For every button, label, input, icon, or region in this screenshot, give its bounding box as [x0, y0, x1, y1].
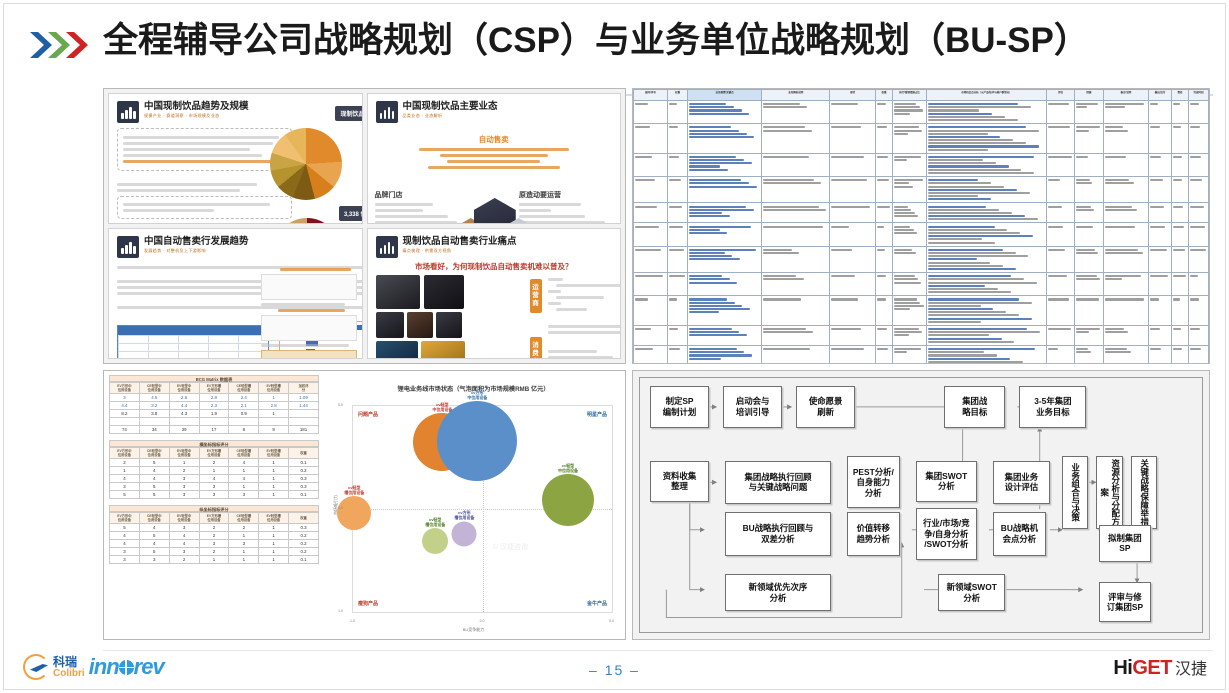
worksheet-cell[interactable] [927, 345, 1047, 364]
worksheet-cell[interactable] [830, 223, 876, 246]
bcg-cell[interactable]: 1 [110, 467, 140, 475]
bcg-cell[interactable]: 2.1 [229, 402, 259, 410]
flow-box-b18[interactable]: 拟制集团SP [1099, 525, 1152, 562]
bcg-cell[interactable]: 0.2 [289, 532, 319, 540]
bcg-cell[interactable]: 181 [289, 426, 319, 434]
bcg-cell[interactable]: 5 [110, 524, 140, 532]
worksheet-cell[interactable] [893, 101, 927, 124]
worksheet-cell[interactable] [875, 325, 892, 345]
worksheet-cell[interactable] [762, 124, 830, 154]
worksheet-cell[interactable] [1189, 223, 1209, 246]
worksheet-cell[interactable] [668, 223, 688, 246]
bcg-table[interactable]: BCG Matrix 数据表EV方形中位用设备CE轻型中位用设备EV轻型中位用设… [109, 375, 319, 434]
bcg-table-row[interactable]: 4.43.24.42.32.12.81.44 [110, 402, 319, 410]
flow-box-b7[interactable]: 集团战略执行回顾与关键战略问题 [725, 461, 831, 504]
worksheet-cell[interactable] [762, 273, 830, 296]
worksheet-cell[interactable] [927, 296, 1047, 326]
worksheet-cell[interactable] [688, 101, 762, 124]
bcg-cell[interactable]: 3 [199, 540, 229, 548]
worksheet-cell[interactable] [668, 246, 688, 272]
bcg-cell[interactable]: 0.1 [289, 556, 319, 564]
bcg-cell[interactable]: 9 [259, 426, 289, 434]
bcg-cell[interactable]: 4.5 [139, 394, 169, 402]
worksheet-cell[interactable] [1103, 345, 1149, 364]
bcg-cell[interactable]: 1 [259, 556, 289, 564]
bcg-cell[interactable] [139, 418, 169, 426]
worksheet-cell[interactable] [668, 296, 688, 326]
flow-box-b15[interactable]: 价值转移趋势分析 [847, 512, 900, 555]
bcg-cell[interactable] [289, 410, 319, 418]
worksheet-row[interactable] [634, 177, 1209, 203]
worksheet-cell[interactable] [1075, 153, 1103, 176]
worksheet-cell[interactable] [830, 296, 876, 326]
bcg-cell[interactable]: 1 [259, 483, 289, 491]
worksheet-cell[interactable] [927, 246, 1047, 272]
bcg-cell[interactable]: 2 [169, 467, 199, 475]
bcg-cell[interactable]: 17 [199, 426, 229, 434]
worksheet-cell[interactable] [634, 101, 668, 124]
bcg-cell[interactable]: 4 [110, 540, 140, 548]
bcg-cell[interactable]: 1 [259, 540, 289, 548]
worksheet-cell[interactable] [1103, 124, 1149, 154]
worksheet-row[interactable] [634, 153, 1209, 176]
bcg-cell[interactable]: 3 [229, 491, 259, 499]
worksheet-cell[interactable] [1075, 345, 1103, 364]
worksheet-cell[interactable] [875, 246, 892, 272]
worksheet-cell[interactable] [1103, 203, 1149, 223]
slide-thumb-2[interactable]: 中国现制饮品主要业态 品类业态 · 业态解析 自动售卖 品牌门店 [367, 93, 622, 224]
worksheet-cell[interactable] [688, 203, 762, 223]
panel-industry-slides[interactable]: 中国现制饮品趋势及规模 规模产业 · 赛道洞察 · 市场规模及业态 [103, 88, 626, 364]
bcg-cell[interactable]: 1 [259, 459, 289, 467]
flow-box-b10[interactable]: 集团业务设计评估 [993, 461, 1050, 504]
flow-box-b17[interactable]: BU战略机会点分析 [993, 512, 1046, 555]
worksheet-cell[interactable] [762, 246, 830, 272]
bcg-cell[interactable]: 2.8 [199, 394, 229, 402]
bcg-cell[interactable]: 1 [259, 532, 289, 540]
worksheet-row[interactable] [634, 124, 1209, 154]
worksheet-cell[interactable] [875, 223, 892, 246]
bcg-cell[interactable]: 5 [139, 491, 169, 499]
bcg-table-row[interactable]: 4542110.2 [110, 532, 319, 540]
flow-box-b9[interactable]: 集团SWOT分析 [916, 461, 977, 502]
worksheet-cell[interactable] [1171, 124, 1188, 154]
flow-box-b20[interactable]: 新领域优先次序分析 [725, 574, 831, 611]
worksheet-cell[interactable] [1075, 177, 1103, 203]
worksheet-cell[interactable] [893, 203, 927, 223]
flow-box-b21[interactable]: 新领域SWOT分析 [938, 574, 1005, 611]
worksheet-cell[interactable] [634, 124, 668, 154]
worksheet-cell[interactable] [1103, 296, 1149, 326]
worksheet-cell[interactable] [1149, 345, 1172, 364]
worksheet-cell[interactable] [1075, 273, 1103, 296]
worksheet-cell[interactable] [688, 296, 762, 326]
worksheet-cell[interactable] [1046, 345, 1074, 364]
worksheet-cell[interactable] [1075, 101, 1103, 124]
worksheet-cell[interactable] [668, 101, 688, 124]
worksheet-cell[interactable] [1189, 101, 1209, 124]
worksheet-cell[interactable] [893, 177, 927, 203]
worksheet-cell[interactable] [927, 153, 1047, 176]
worksheet-cell[interactable] [634, 273, 668, 296]
bcg-cell[interactable]: 3 [110, 483, 140, 491]
bcg-cell[interactable]: 4 [139, 475, 169, 483]
worksheet-cell[interactable] [1189, 124, 1209, 154]
worksheet-cell[interactable] [688, 124, 762, 154]
worksheet-cell[interactable] [1046, 296, 1074, 326]
worksheet-cell[interactable] [1103, 246, 1149, 272]
bcg-cell[interactable]: 0.1 [289, 491, 319, 499]
worksheet-cell[interactable] [893, 273, 927, 296]
bcg-cell[interactable]: 3 [110, 394, 140, 402]
worksheet-cell[interactable] [1171, 325, 1188, 345]
worksheet-cell[interactable] [634, 177, 668, 203]
bcg-cell[interactable]: 2 [229, 524, 259, 532]
bcg-cell[interactable]: 3 [169, 548, 199, 556]
worksheet-cell[interactable] [1103, 153, 1149, 176]
panel-strategy-worksheet[interactable]: 编号/序号权重业务要素/关键点业务解析说明现状权重执行/管理措施占比市场机会点分… [632, 88, 1210, 364]
worksheet-cell[interactable] [830, 273, 876, 296]
flow-box-b3[interactable]: 使命愿景刷新 [796, 386, 855, 427]
worksheet-cell[interactable] [762, 153, 830, 176]
bcg-cell[interactable]: 4.4 [169, 402, 199, 410]
bcg-table-row[interactable]: 3533110.3 [110, 483, 319, 491]
bcg-cell[interactable]: 0.3 [289, 524, 319, 532]
bubble-point[interactable] [437, 401, 517, 481]
worksheet-cell[interactable] [1149, 177, 1172, 203]
slide-thumb-4[interactable]: 现制饮品自动售卖行业痛点 痛点梳理 · 供需双方视角 市场看好，为何现制饮品自动… [367, 228, 622, 359]
worksheet-cell[interactable] [875, 296, 892, 326]
worksheet-cell[interactable] [1189, 246, 1209, 272]
flow-box-b11[interactable]: 业务组合与决策 [1062, 456, 1088, 528]
bcg-cell[interactable]: 3 [169, 483, 199, 491]
bcg-cell[interactable]: 5 [139, 459, 169, 467]
bcg-cell[interactable]: 1 [229, 532, 259, 540]
bcg-cell[interactable] [229, 418, 259, 426]
flow-box-b4[interactable]: 集团战略目标 [944, 386, 1005, 427]
worksheet-cell[interactable] [1171, 177, 1188, 203]
bcg-table-row[interactable]: 34.52.62.82.411.09 [110, 394, 319, 402]
bcg-cell[interactable]: 4 [229, 459, 259, 467]
worksheet-cell[interactable] [893, 124, 927, 154]
worksheet-cell[interactable] [927, 101, 1047, 124]
bcg-cell[interactable]: 2 [199, 532, 229, 540]
bcg-cell[interactable]: 3 [229, 540, 259, 548]
bcg-table-row[interactable]: 5432210.3 [110, 524, 319, 532]
bcg-cell[interactable]: 3 [110, 556, 140, 564]
bcg-cell[interactable]: 8 [229, 426, 259, 434]
worksheet-cell[interactable] [688, 345, 762, 364]
worksheet-cell[interactable] [830, 345, 876, 364]
worksheet-cell[interactable] [927, 203, 1047, 223]
worksheet-cell[interactable] [668, 203, 688, 223]
flow-box-b12[interactable]: 资源分析与分配方案 [1096, 456, 1122, 528]
worksheet-row[interactable] [634, 223, 1209, 246]
bcg-table-row[interactable] [110, 418, 319, 426]
worksheet-row[interactable] [634, 203, 1209, 223]
bcg-cell[interactable]: 4 [139, 467, 169, 475]
worksheet-cell[interactable] [1149, 223, 1172, 246]
worksheet-cell[interactable] [1046, 124, 1074, 154]
bcg-cell[interactable]: 1 [259, 394, 289, 402]
bcg-cell[interactable]: 1 [259, 524, 289, 532]
bcg-cell[interactable]: 3.8 [139, 410, 169, 418]
worksheet-cell[interactable] [875, 273, 892, 296]
bcg-cell[interactable] [199, 418, 229, 426]
slide-thumb-3[interactable]: 中国自动售卖行发展趋势 发展趋势 · 对整机及上下游影响 [108, 228, 363, 359]
flow-box-b13[interactable]: 关键战略保障举措 [1131, 456, 1157, 528]
worksheet-cell[interactable] [1149, 153, 1172, 176]
bcg-bubble-chart[interactable]: 锂电业务线市场状态（气泡面积为市场规模RMB 亿元） 市场吸引力 BU竞争能力 … [322, 371, 625, 639]
bcg-cell[interactable]: 3 [169, 491, 199, 499]
worksheet-cell[interactable] [893, 345, 927, 364]
worksheet-row[interactable] [634, 325, 1209, 345]
flow-box-b16[interactable]: 行业/市场/竞争/自身分析/SWOT分析 [916, 508, 977, 560]
bubble-point[interactable] [422, 528, 448, 554]
bcg-cell[interactable] [289, 418, 319, 426]
worksheet-cell[interactable] [1171, 296, 1188, 326]
bubble-point[interactable] [452, 521, 477, 546]
bcg-cell[interactable]: 1 [229, 467, 259, 475]
worksheet-cell[interactable] [1075, 223, 1103, 246]
bcg-cell[interactable]: 0.2 [289, 540, 319, 548]
worksheet-cell[interactable] [1189, 345, 1209, 364]
worksheet-cell[interactable] [1171, 223, 1188, 246]
worksheet-cell[interactable] [1149, 273, 1172, 296]
bcg-tables[interactable]: BCG Matrix 数据表EV方形中位用设备CE轻型中位用设备EV轻型中位用设… [104, 371, 322, 639]
worksheet-cell[interactable] [762, 345, 830, 364]
flow-box-b5[interactable]: 3-5年集团业务目标 [1019, 386, 1086, 427]
worksheet-cell[interactable] [668, 273, 688, 296]
bcg-cell[interactable]: 4.3 [169, 410, 199, 418]
worksheet-cell[interactable] [1189, 203, 1209, 223]
worksheet-cell[interactable] [1189, 325, 1209, 345]
worksheet-cell[interactable] [1171, 101, 1188, 124]
bcg-table-row[interactable]: 7434391789181 [110, 426, 319, 434]
worksheet-cell[interactable] [830, 101, 876, 124]
bcg-table-row[interactable]: 3532110.2 [110, 548, 319, 556]
bcg-cell[interactable] [169, 418, 199, 426]
worksheet-cell[interactable] [762, 177, 830, 203]
worksheet-cell[interactable] [893, 296, 927, 326]
worksheet-cell[interactable] [1075, 325, 1103, 345]
worksheet-cell[interactable] [1103, 177, 1149, 203]
flow-box-b19[interactable]: 评审与修订集团SP [1099, 582, 1152, 621]
bcg-cell[interactable]: 1.9 [199, 410, 229, 418]
bcg-table[interactable]: 横坐标指标评分EV方形中位用设备CE轻型中位用设备EV轻型中位用设备EV方形槽位… [109, 440, 319, 499]
panel-csp-flowchart[interactable]: 制定SP编制计划启动会与培训引导使命愿景刷新集团战略目标3-5年集团业务目标资料… [632, 370, 1210, 640]
bcg-table[interactable]: 纵坐标指标评分EV方形中位用设备CE轻型中位用设备EV轻型中位用设备EV方形槽位… [109, 505, 319, 564]
worksheet-cell[interactable] [634, 296, 668, 326]
worksheet-cell[interactable] [1189, 153, 1209, 176]
bcg-cell[interactable]: 1 [259, 410, 289, 418]
bcg-cell[interactable]: 3 [199, 491, 229, 499]
bcg-cell[interactable]: 1 [199, 556, 229, 564]
bcg-table-row[interactable]: 4434410.3 [110, 475, 319, 483]
bcg-cell[interactable]: 1 [259, 491, 289, 499]
worksheet-cell[interactable] [830, 203, 876, 223]
worksheet-cell[interactable] [1046, 325, 1074, 345]
bcg-cell[interactable] [259, 418, 289, 426]
worksheet-cell[interactable] [1171, 153, 1188, 176]
bcg-cell[interactable]: 2 [199, 459, 229, 467]
bcg-cell[interactable]: 39 [169, 426, 199, 434]
worksheet-cell[interactable] [1149, 246, 1172, 272]
bcg-cell[interactable]: 3 [169, 524, 199, 532]
worksheet-cell[interactable] [875, 124, 892, 154]
bcg-cell[interactable]: 4 [229, 475, 259, 483]
bcg-cell[interactable]: 3 [169, 475, 199, 483]
worksheet-cell[interactable] [927, 223, 1047, 246]
bcg-cell[interactable]: 4 [169, 540, 199, 548]
bcg-cell[interactable]: 2.4 [229, 394, 259, 402]
bcg-cell[interactable]: 4 [110, 532, 140, 540]
worksheet-cell[interactable] [688, 246, 762, 272]
worksheet-cell[interactable] [688, 153, 762, 176]
worksheet-row[interactable] [634, 101, 1209, 124]
worksheet-cell[interactable] [1171, 273, 1188, 296]
bcg-table-row[interactable]: 8.23.84.31.90.91 [110, 410, 319, 418]
flow-box-b1[interactable]: 制定SP编制计划 [650, 386, 709, 427]
worksheet-cell[interactable] [1149, 203, 1172, 223]
worksheet-cell[interactable] [688, 223, 762, 246]
bcg-cell[interactable]: 2 [199, 524, 229, 532]
bcg-cell[interactable]: 0.2 [289, 467, 319, 475]
bcg-cell[interactable]: 1 [169, 459, 199, 467]
bcg-cell[interactable]: 1 [259, 548, 289, 556]
worksheet-cell[interactable] [1046, 177, 1074, 203]
worksheet-cell[interactable] [1046, 153, 1074, 176]
bcg-cell[interactable]: 2 [199, 548, 229, 556]
worksheet-cell[interactable] [1171, 345, 1188, 364]
bcg-cell[interactable]: 3 [199, 483, 229, 491]
worksheet-cell[interactable] [1046, 101, 1074, 124]
bcg-cell[interactable]: 2.6 [169, 394, 199, 402]
bcg-cell[interactable]: 0.3 [289, 475, 319, 483]
bcg-cell[interactable]: 0.3 [289, 483, 319, 491]
bcg-cell[interactable]: 5 [139, 532, 169, 540]
worksheet-cell[interactable] [1075, 246, 1103, 272]
flow-box-b8[interactable]: PEST分析/自身能力分析 [847, 456, 900, 508]
bcg-cell[interactable]: 4 [199, 475, 229, 483]
worksheet-cell[interactable] [668, 153, 688, 176]
bcg-cell[interactable]: 2 [110, 459, 140, 467]
bcg-cell[interactable]: 0.2 [289, 548, 319, 556]
bcg-cell[interactable] [110, 418, 140, 426]
worksheet-cell[interactable] [830, 124, 876, 154]
bubble-point[interactable] [337, 496, 371, 530]
bcg-table-row[interactable]: 3321110.1 [110, 556, 319, 564]
worksheet-cell[interactable] [668, 325, 688, 345]
flow-box-b6[interactable]: 资料收集整理 [650, 461, 709, 502]
worksheet-cell[interactable] [634, 345, 668, 364]
worksheet-row[interactable] [634, 345, 1209, 364]
worksheet-cell[interactable] [762, 101, 830, 124]
worksheet-cell[interactable] [1149, 101, 1172, 124]
worksheet-cell[interactable] [762, 203, 830, 223]
bcg-cell[interactable]: 5 [139, 483, 169, 491]
worksheet-cell[interactable] [634, 203, 668, 223]
bcg-cell[interactable]: 0.1 [289, 459, 319, 467]
worksheet-cell[interactable] [830, 246, 876, 272]
slide-thumb-1[interactable]: 中国现制饮品趋势及规模 规模产业 · 赛道洞察 · 市场规模及业态 [108, 93, 363, 224]
worksheet-cell[interactable] [1171, 246, 1188, 272]
worksheet-cell[interactable] [688, 177, 762, 203]
flow-box-b14[interactable]: BU战略执行回顾与双差分析 [725, 512, 831, 555]
bcg-cell[interactable]: 1 [259, 467, 289, 475]
flow-box-b2[interactable]: 启动会与培训引导 [723, 386, 782, 427]
worksheet-cell[interactable] [1149, 325, 1172, 345]
worksheet-cell[interactable] [762, 325, 830, 345]
bcg-cell[interactable]: 34 [139, 426, 169, 434]
worksheet-cell[interactable] [668, 177, 688, 203]
worksheet-cell[interactable] [762, 223, 830, 246]
worksheet-cell[interactable] [1103, 101, 1149, 124]
worksheet-cell[interactable] [1046, 273, 1074, 296]
bcg-cell[interactable]: 1 [229, 556, 259, 564]
worksheet-cell[interactable] [1171, 203, 1188, 223]
bcg-cell[interactable]: 4 [110, 475, 140, 483]
worksheet-cell[interactable] [1103, 223, 1149, 246]
worksheet-row[interactable] [634, 296, 1209, 326]
worksheet-cell[interactable] [1046, 223, 1074, 246]
worksheet-cell[interactable] [634, 325, 668, 345]
worksheet-cell[interactable] [1075, 296, 1103, 326]
bcg-cell[interactable]: 1 [199, 467, 229, 475]
worksheet-cell[interactable] [668, 124, 688, 154]
worksheet-cell[interactable] [875, 153, 892, 176]
bcg-cell[interactable]: 3 [110, 548, 140, 556]
worksheet-cell[interactable] [1103, 273, 1149, 296]
worksheet-cell[interactable] [668, 345, 688, 364]
bcg-table-row[interactable]: 1421110.2 [110, 467, 319, 475]
worksheet-cell[interactable] [688, 325, 762, 345]
bcg-cell[interactable]: 2 [169, 556, 199, 564]
worksheet-cell[interactable] [927, 124, 1047, 154]
bcg-cell[interactable]: 3.2 [139, 402, 169, 410]
worksheet-row[interactable] [634, 273, 1209, 296]
bcg-cell[interactable]: 8.2 [110, 410, 140, 418]
worksheet-cell[interactable] [634, 246, 668, 272]
worksheet-cell[interactable] [927, 325, 1047, 345]
bcg-cell[interactable]: 74 [110, 426, 140, 434]
worksheet-cell[interactable] [893, 153, 927, 176]
worksheet-cell[interactable] [830, 325, 876, 345]
worksheet-cell[interactable] [893, 223, 927, 246]
bcg-cell[interactable]: 4 [139, 540, 169, 548]
worksheet-cell[interactable] [1149, 124, 1172, 154]
worksheet-row[interactable] [634, 246, 1209, 272]
panel-bcg-matrix[interactable]: BCG Matrix 数据表EV方形中位用设备CE轻型中位用设备EV轻型中位用设… [103, 370, 626, 640]
worksheet-cell[interactable] [634, 223, 668, 246]
bcg-cell[interactable]: 1 [229, 483, 259, 491]
bcg-table-row[interactable]: 2512410.1 [110, 459, 319, 467]
worksheet-cell[interactable] [688, 273, 762, 296]
bcg-table-row[interactable]: 5533310.1 [110, 491, 319, 499]
bcg-cell[interactable]: 4.4 [110, 402, 140, 410]
bcg-cell[interactable]: 2.8 [259, 402, 289, 410]
bcg-cell[interactable]: 5 [139, 548, 169, 556]
bcg-cell[interactable]: 3 [139, 556, 169, 564]
bcg-cell[interactable]: 2.3 [199, 402, 229, 410]
worksheet-cell[interactable] [1189, 296, 1209, 326]
worksheet-cell[interactable] [893, 246, 927, 272]
worksheet-cell[interactable] [634, 153, 668, 176]
worksheet-cell[interactable] [830, 153, 876, 176]
bubble-point[interactable] [542, 474, 594, 526]
worksheet-cell[interactable] [893, 325, 927, 345]
bcg-cell[interactable]: 1.09 [289, 394, 319, 402]
